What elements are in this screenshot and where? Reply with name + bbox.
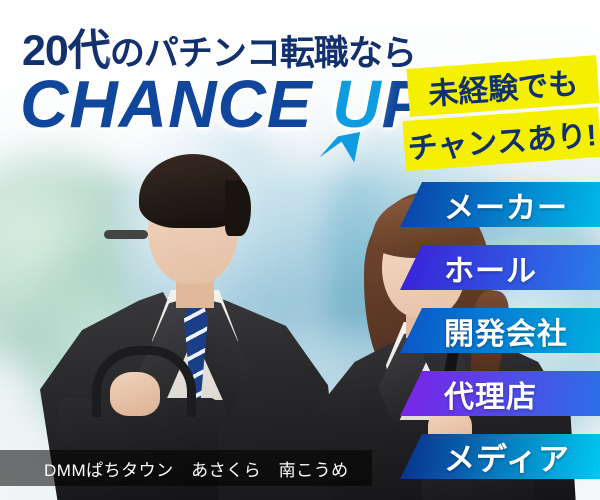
category-tag-list: メーカー ホール 開発会社 代理店 メディア [400,182,600,497]
category-tag-label: ホール [444,246,537,290]
category-tag-label: メーカー [444,183,568,227]
category-tag-label: 開発会社 [444,309,568,353]
category-tag-hall[interactable]: ホール [400,245,600,290]
category-tag-label: 代理店 [444,372,537,416]
logo-word-chance: CHANCE [20,67,313,142]
credit-caption-text: DMMぱちタウン あさくら 南こうめ [44,456,349,481]
category-tag-media[interactable]: メディア [400,434,600,479]
businessman-figure [40,150,340,500]
badge-line-2: チャンスあり! [402,107,600,171]
logo-chance-up: CHANCE UP [20,66,427,143]
advertisement-banner[interactable]: 20代のパチンコ転職なら CHANCE UP 未経験でも チャンスあり! メーカ… [0,0,600,500]
logo-letter-u: U [332,67,381,142]
category-tag-developer[interactable]: 開発会社 [400,308,600,353]
badge-line-1: 未経験でも [406,55,599,117]
credit-caption-bar: DMMぱちタウン あさくら 南こうめ [0,450,372,486]
category-tag-agency[interactable]: 代理店 [400,371,600,416]
highlight-badge: 未経験でも チャンスあり! [404,58,600,170]
category-tag-maker[interactable]: メーカー [400,182,600,227]
category-tag-label: メディア [444,434,570,479]
